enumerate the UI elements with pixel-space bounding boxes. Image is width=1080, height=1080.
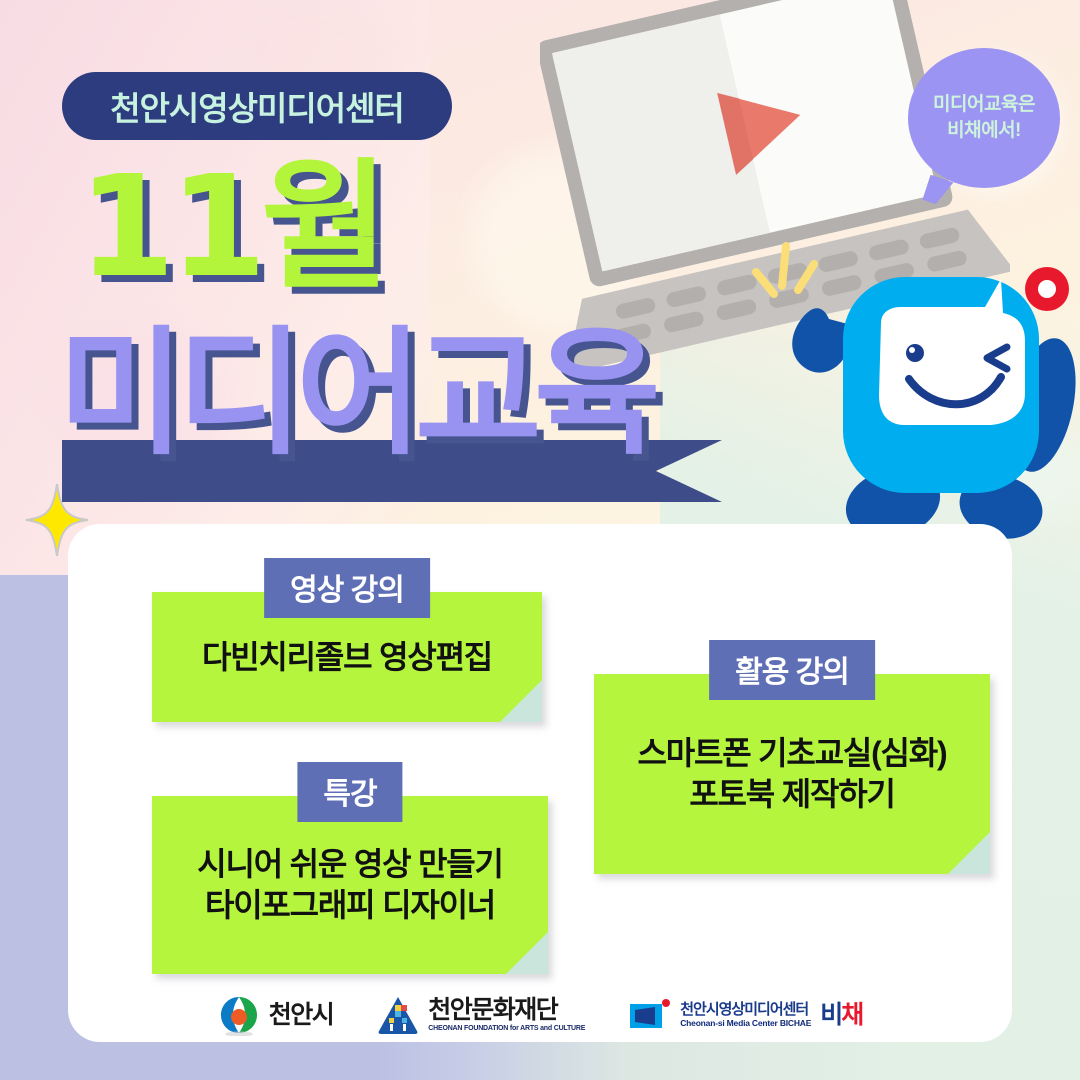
logo-bichae-label-en: Cheonan-si Media Center BICHAE [680, 1019, 811, 1028]
logo-row: 천안시 천안문화재단 CHEONAN FOUNDATION for ARTS a… [68, 980, 1012, 1050]
folded-corner [500, 680, 542, 722]
poster-canvas: 11월 미디어교육 천안시영상미디어센터 미디어교육은 비채에서! 영상 강의 … [0, 0, 1080, 1080]
course-card-tag: 영상 강의 [264, 558, 430, 618]
center-name-badge: 천안시영상미디어센터 [62, 72, 452, 140]
speech-bubble-line-2: 비채에서! [947, 118, 1021, 144]
logo-cheonan-city: 천안시 [218, 994, 334, 1036]
logo-bichae-label-ko: 천안시영상미디어센터 [680, 1002, 811, 1017]
course-card-body: 시니어 쉬운 영상 만들기 타이포그래피 디자이너 [152, 796, 548, 974]
bichae-screen-mark-icon [629, 999, 671, 1031]
folded-corner [506, 932, 548, 974]
logo-foundation-label-ko: 천안문화재단 [428, 998, 585, 1023]
course-card-tag: 특강 [297, 762, 402, 822]
logo-cheonan-culture-foundation: 천안문화재단 CHEONAN FOUNDATION for ARTS and C… [377, 994, 585, 1036]
logo-foundation-label-en: CHEONAN FOUNDATION for ARTS and CULTURE [428, 1025, 585, 1032]
folded-corner [948, 832, 990, 874]
course-card-tag: 활용 강의 [709, 640, 875, 700]
logo-bichae-mark-label: 비채 [820, 1003, 862, 1028]
course-card-line: 시니어 쉬운 영상 만들기 [197, 844, 502, 885]
logo-cheonan-city-label: 천안시 [269, 1003, 334, 1028]
course-card-line: 다빈치리졸브 영상편집 [202, 637, 492, 678]
foundation-triangle-mark-icon [377, 994, 419, 1036]
title-main: 미디어교육 [58, 325, 653, 463]
course-card-line: 포토북 제작하기 [689, 774, 894, 815]
course-card-line: 스마트폰 기초교실(심화) [637, 733, 946, 774]
mascot-bichae [785, 255, 1080, 540]
cheonan-city-mark-icon [218, 994, 260, 1036]
course-card-line: 타이포그래피 디자이너 [205, 885, 495, 926]
logo-bichae-media-center: 천안시영상미디어센터 Cheonan-si Media Center BICHA… [629, 999, 862, 1031]
center-name-label: 천안시영상미디어센터 [110, 82, 404, 130]
speech-bubble-line-1: 미디어교육은 [933, 92, 1035, 118]
speech-bubble: 미디어교육은 비채에서! [908, 48, 1060, 188]
course-card-body: 스마트폰 기초교실(심화) 포토북 제작하기 [594, 674, 990, 874]
title-month: 11월 [78, 158, 384, 298]
